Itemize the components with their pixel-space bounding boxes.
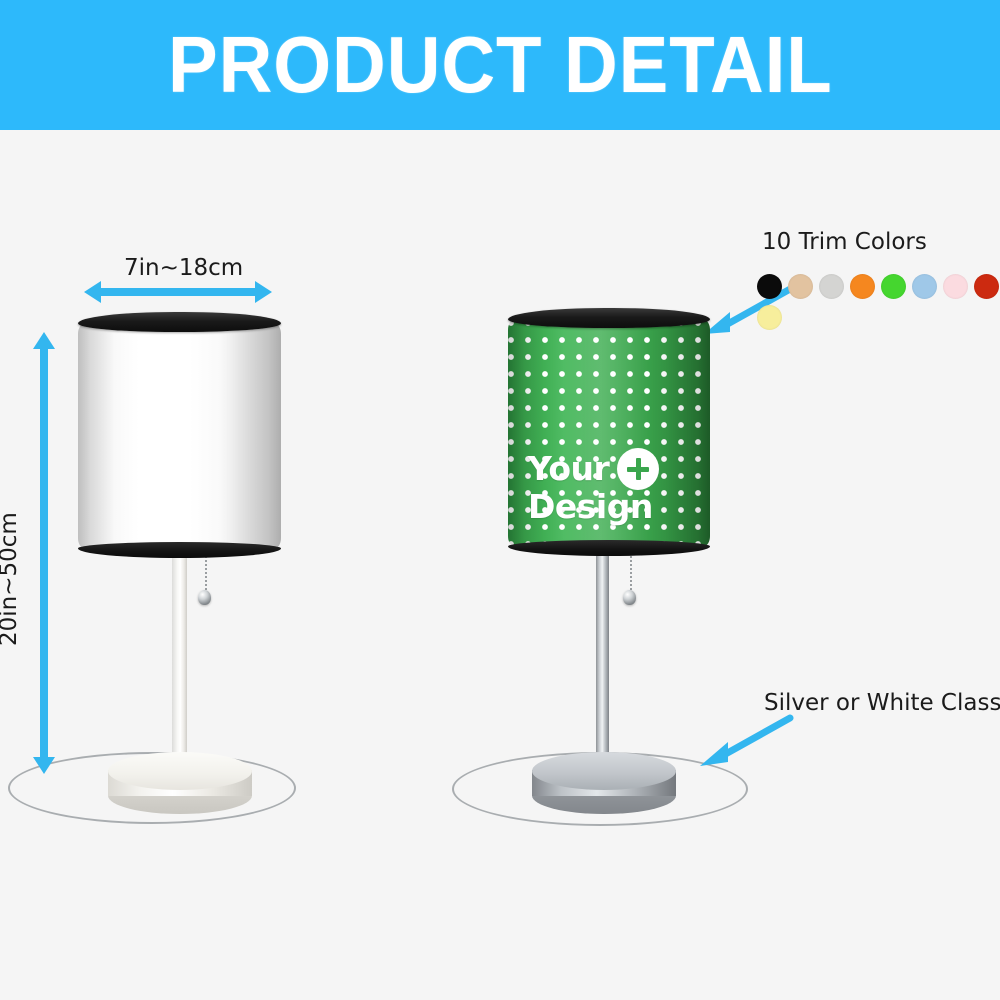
your-design-placeholder: Your Design <box>528 448 659 524</box>
shade-surface-white <box>78 324 281 548</box>
lamp-pole-silver <box>596 548 609 772</box>
width-dimension-label: 7in~18cm <box>124 255 243 281</box>
swatch-tan[interactable] <box>788 274 813 299</box>
height-dimension-arrow <box>40 348 48 758</box>
your-design-line1: Your <box>528 452 609 486</box>
swatch-dark-red[interactable] <box>974 274 999 299</box>
base-top-silver <box>532 752 676 790</box>
trim-colors-title: 10 Trim Colors <box>762 229 927 255</box>
shade-gloss-white <box>78 324 281 548</box>
lampshade-green: Your Design <box>508 308 710 560</box>
lampshade-white <box>78 312 281 560</box>
your-design-line2: Design <box>528 490 659 524</box>
pull-chain-white <box>205 552 207 594</box>
swatch-orange[interactable] <box>850 274 875 299</box>
swatch-black[interactable] <box>757 274 782 299</box>
pull-chain-ball-silver <box>623 590 636 605</box>
base-top-white <box>108 752 252 790</box>
shade-trim-bottom-white <box>78 542 281 558</box>
lamp-white <box>0 0 340 1000</box>
swatch-pink[interactable] <box>943 274 968 299</box>
shade-trim-top-green <box>508 308 710 328</box>
swatch-light-blue[interactable] <box>912 274 937 299</box>
shade-trim-bottom-green <box>508 540 710 556</box>
product-detail-page: PRODUCT DETAIL <box>0 0 1000 1000</box>
lamp-green: Your Design <box>430 0 790 1000</box>
swatch-green[interactable] <box>881 274 906 299</box>
pull-chain-ball-white <box>198 590 211 605</box>
height-dimension-label: 20in~50cm <box>0 512 22 646</box>
swatch-light-gray[interactable] <box>819 274 844 299</box>
width-dimension-arrow <box>100 288 256 296</box>
pull-chain-silver <box>630 552 632 594</box>
shade-trim-top-white <box>78 312 281 332</box>
base-finish-pointer-arrow <box>690 710 800 780</box>
swatch-yellow[interactable] <box>757 305 782 330</box>
trim-color-swatches[interactable] <box>757 274 1000 330</box>
lamp-pole-white <box>172 548 187 770</box>
lamp-base-white <box>108 752 252 814</box>
plus-circle-icon <box>617 448 659 490</box>
lamp-base-silver <box>532 752 676 814</box>
